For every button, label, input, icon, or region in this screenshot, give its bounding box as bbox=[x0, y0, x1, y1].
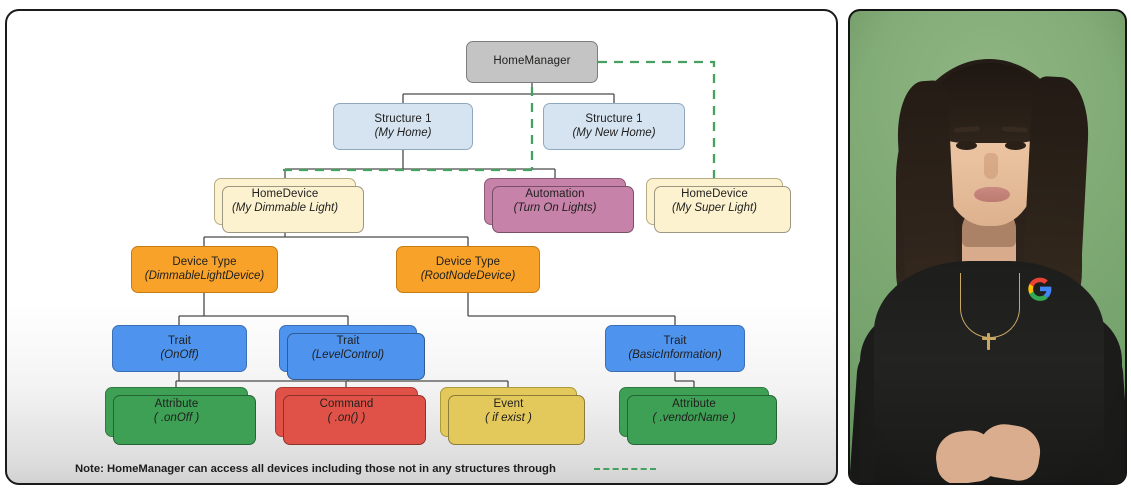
node-attr-vendor[interactable]: Attribute( .vendorName ) bbox=[619, 387, 769, 437]
note-legend-dashed-line bbox=[594, 468, 656, 470]
node-event-if-exist[interactable]: Event( if exist ) bbox=[440, 387, 577, 437]
node-title: HomeManager bbox=[493, 55, 570, 69]
node-command-on[interactable]: Command( .on() ) bbox=[275, 387, 418, 437]
node-subtitle: (My Dimmable Light) bbox=[232, 202, 338, 216]
node-subtitle: ( .on() ) bbox=[328, 412, 366, 426]
node-subtitle: (RootNodeDevice) bbox=[421, 270, 516, 284]
node-subtitle: (LevelControl) bbox=[312, 349, 384, 363]
screen-root: HomeManagerStructure 1(My Home)Structure… bbox=[0, 0, 1131, 490]
node-title: Event bbox=[494, 398, 524, 412]
presenter-eye-right bbox=[1005, 141, 1026, 150]
node-structure-2[interactable]: Structure 1(My New Home) bbox=[543, 103, 685, 150]
diagram-canvas: HomeManagerStructure 1(My Home)Structure… bbox=[7, 11, 836, 483]
presenter-eye-left bbox=[956, 141, 977, 150]
node-title: Automation bbox=[525, 188, 584, 202]
node-title: Structure 1 bbox=[374, 113, 431, 127]
node-subtitle: (My New Home) bbox=[572, 127, 655, 141]
node-title: Attribute bbox=[155, 398, 199, 412]
presenter-video-panel[interactable] bbox=[848, 9, 1127, 485]
node-subtitle: (OnOff) bbox=[160, 349, 198, 363]
node-title: Trait bbox=[663, 335, 686, 349]
node-subtitle: ( if exist ) bbox=[485, 412, 532, 426]
node-title: Command bbox=[320, 398, 374, 412]
node-trait-basic[interactable]: Trait(BasicInformation) bbox=[605, 325, 745, 372]
node-structure-1[interactable]: Structure 1(My Home) bbox=[333, 103, 473, 150]
node-subtitle: (My Home) bbox=[375, 127, 432, 141]
node-device-type-1[interactable]: Device Type(DimmableLightDevice) bbox=[131, 246, 278, 293]
node-subtitle: (BasicInformation) bbox=[628, 349, 721, 363]
node-device-type-2[interactable]: Device Type(RootNodeDevice) bbox=[396, 246, 540, 293]
diagram-note: Note: HomeManager can access all devices… bbox=[75, 459, 775, 479]
presenter-nose bbox=[984, 153, 998, 179]
node-title: Trait bbox=[168, 335, 191, 349]
node-home-device-2[interactable]: HomeDevice(My Super Light) bbox=[646, 178, 783, 225]
node-title: Trait bbox=[336, 335, 359, 349]
node-title: HomeDevice bbox=[681, 188, 748, 202]
node-attr-onoff[interactable]: Attribute( .onOff ) bbox=[105, 387, 248, 437]
node-automation[interactable]: Automation(Turn On Lights) bbox=[484, 178, 626, 225]
google-g-logo bbox=[1027, 276, 1053, 302]
node-subtitle: (My Super Light) bbox=[672, 202, 757, 216]
presenter-cross-pendant-vertical bbox=[987, 333, 990, 350]
node-home-manager[interactable]: HomeManager bbox=[466, 41, 598, 83]
node-home-device-1[interactable]: HomeDevice(My Dimmable Light) bbox=[214, 178, 356, 225]
node-subtitle: (Turn On Lights) bbox=[514, 202, 597, 216]
presenter-cross-pendant-horizontal bbox=[982, 337, 996, 340]
presenter-mouth bbox=[974, 187, 1010, 202]
node-subtitle: ( .vendorName ) bbox=[652, 412, 735, 426]
node-title: Structure 1 bbox=[585, 113, 642, 127]
node-trait-onoff[interactable]: Trait(OnOff) bbox=[112, 325, 247, 372]
node-subtitle: (DimmableLightDevice) bbox=[145, 270, 265, 284]
node-trait-level[interactable]: Trait(LevelControl) bbox=[279, 325, 417, 372]
node-title: Device Type bbox=[172, 256, 236, 270]
node-subtitle: ( .onOff ) bbox=[154, 412, 199, 426]
node-title: HomeDevice bbox=[252, 188, 319, 202]
node-title: Attribute bbox=[672, 398, 716, 412]
diagram-panel: HomeManagerStructure 1(My Home)Structure… bbox=[5, 9, 838, 485]
presenter-necklace-chain bbox=[960, 273, 1020, 338]
node-title: Device Type bbox=[436, 256, 500, 270]
note-text: Note: HomeManager can access all devices… bbox=[75, 463, 556, 475]
